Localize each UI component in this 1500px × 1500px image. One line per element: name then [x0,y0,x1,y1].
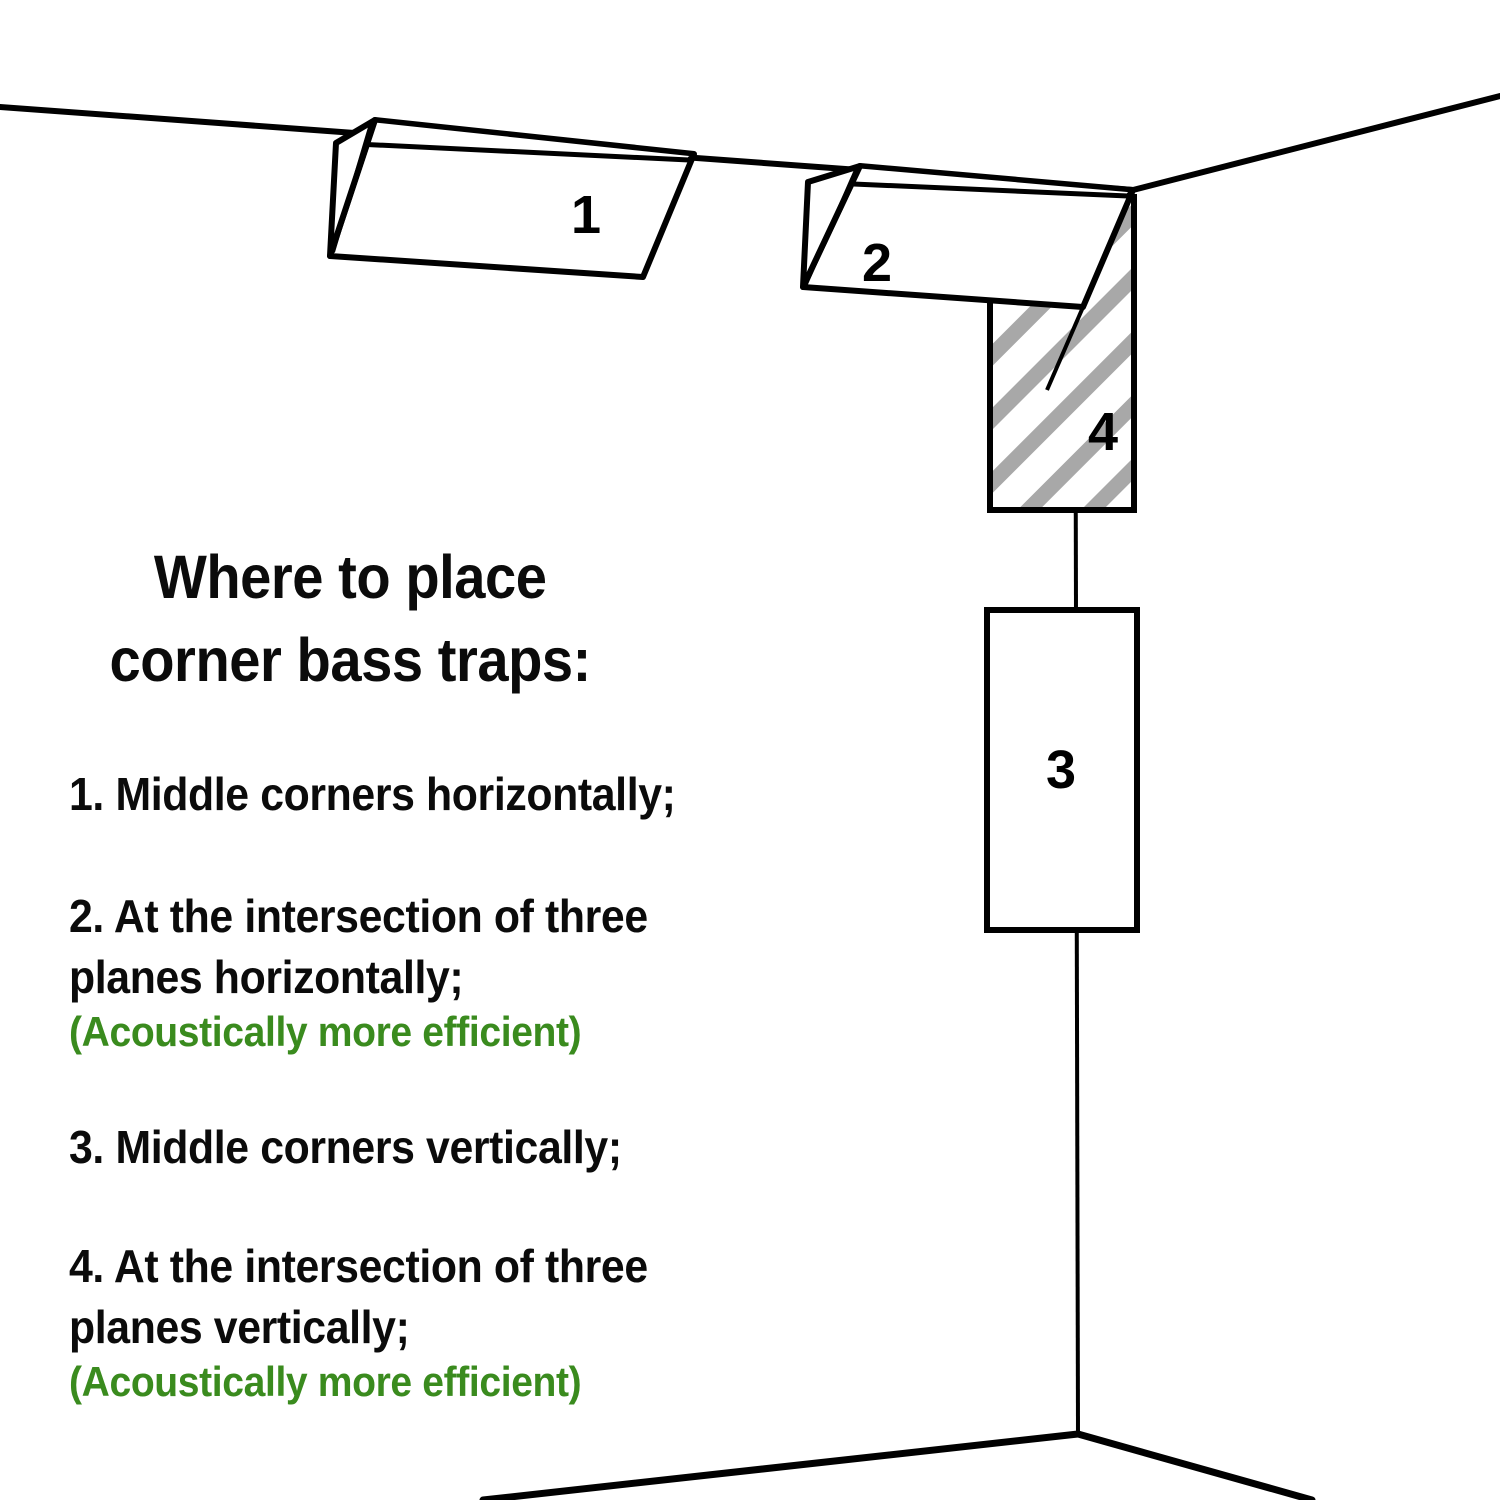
bass-trap-1-shape[interactable] [330,120,694,277]
list-item-3: 3. Middle corners vertically; [69,1117,776,1178]
page-title: Where to place corner bass traps: [65,536,635,702]
list-item-4: 4. At the intersection of three planes v… [69,1236,776,1405]
ceiling-right-edge-line [1133,96,1500,190]
trap-2-label: 2 [862,236,892,290]
trap-1-label: 1 [571,188,601,242]
page-title-line-2: corner bass traps: [65,619,635,702]
list-item-4-note: (Acoustically more efficient) [69,1358,776,1405]
list-item-2-text: 2. At the intersection of three planes h… [69,890,648,1003]
list-item-4-text: 4. At the intersection of three planes v… [69,1240,648,1353]
trap-3-label: 3 [1046,743,1076,797]
list-item-1: 1. Middle corners horizontally; [69,764,776,825]
list-item-3-text: 3. Middle corners vertically; [69,1121,622,1173]
list-item-2-note: (Acoustically more efficient) [69,1008,776,1055]
bass-trap-2-shape[interactable] [803,166,1133,307]
floor-left-edge-line [483,1434,1078,1500]
floor-right-edge-line [1078,1434,1312,1500]
trap-4-label: 4 [1088,405,1118,459]
list-item-2: 2. At the intersection of three planes h… [69,886,776,1055]
legend-text-panel: Where to place corner bass traps: 1. Mid… [65,536,785,702]
page-title-line-1: Where to place [65,536,635,619]
diagram-canvas: 1 2 3 4 Where to place corner bass traps… [0,0,1500,1500]
list-item-1-text: 1. Middle corners horizontally; [69,768,676,820]
